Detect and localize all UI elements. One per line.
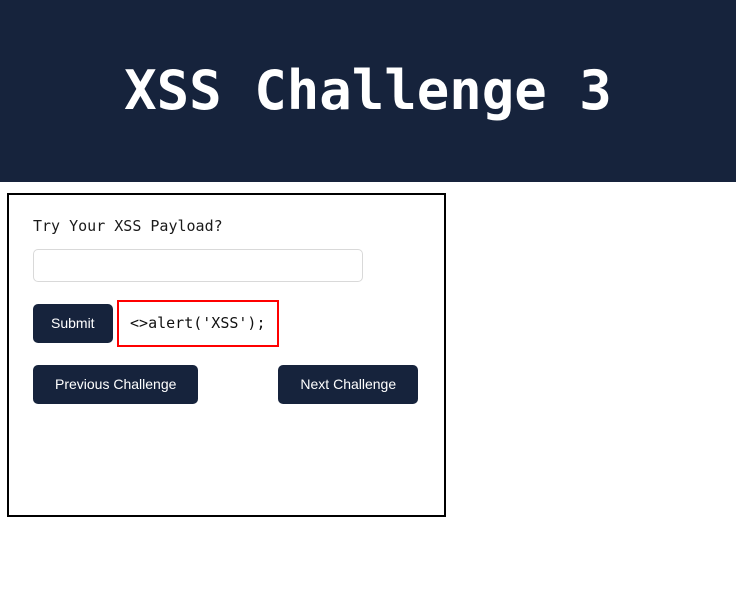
previous-challenge-button[interactable]: Previous Challenge bbox=[33, 365, 198, 404]
payload-input[interactable] bbox=[33, 249, 363, 282]
challenge-card: Try Your XSS Payload? Submit <>alert('XS… bbox=[7, 193, 446, 517]
payload-label: Try Your XSS Payload? bbox=[33, 217, 420, 235]
navigation-row: Previous Challenge Next Challenge bbox=[33, 365, 420, 404]
page-header: XSS Challenge 3 bbox=[0, 0, 736, 182]
page-title: XSS Challenge 3 bbox=[124, 61, 612, 120]
next-challenge-button[interactable]: Next Challenge bbox=[278, 365, 418, 404]
xss-output-box: <>alert('XSS'); bbox=[117, 300, 278, 347]
main-content: Try Your XSS Payload? Submit <>alert('XS… bbox=[0, 182, 736, 517]
submit-button[interactable]: Submit bbox=[33, 304, 113, 343]
